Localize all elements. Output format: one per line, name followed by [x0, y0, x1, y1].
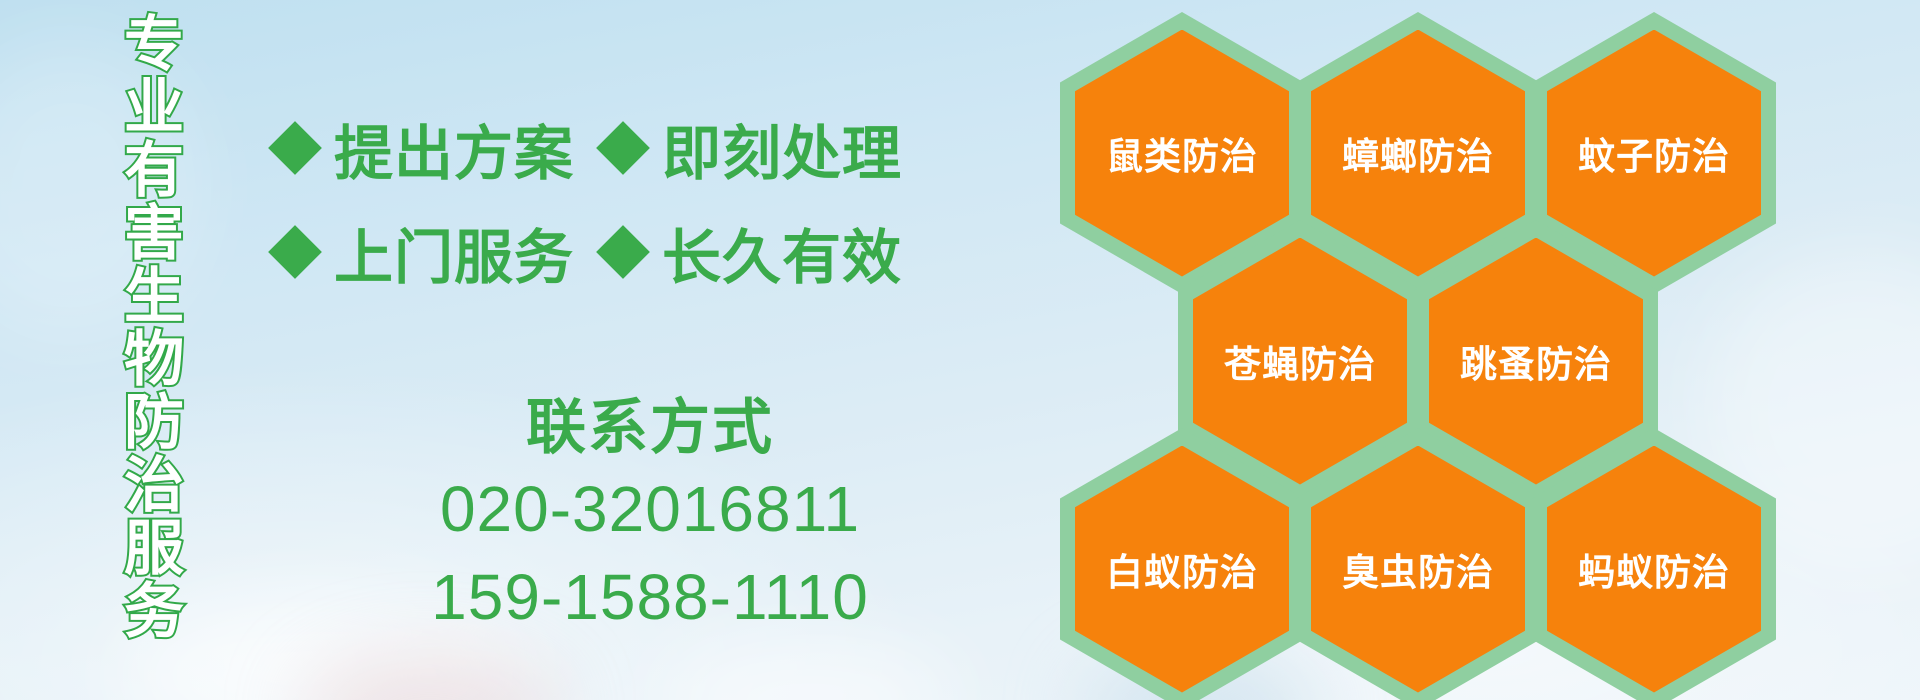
diamond-bullet-icon — [268, 121, 322, 175]
diamond-bullet-icon — [596, 121, 650, 175]
vertical-headline-char: 务 — [106, 581, 202, 644]
contact-heading: 联系方式 — [300, 390, 1000, 465]
service-label: 鼠类防治 — [1106, 126, 1258, 180]
service-label: 白蚁防治 — [1106, 542, 1258, 596]
contact-block: 联系方式 020-32016811 159-1588-1110 — [300, 390, 1000, 642]
diamond-bullet-icon — [268, 225, 322, 279]
hexagon-inner: 臭虫防治 — [1311, 446, 1525, 693]
background-bokeh-blob — [660, 640, 960, 700]
feature-item-immediate-handling: 即刻处理 — [604, 106, 902, 191]
hexagon-inner: 蚊子防治 — [1547, 30, 1761, 277]
vertical-headline-char: 专 — [106, 14, 202, 77]
contact-phone-landline[interactable]: 020-32016811 — [300, 465, 1000, 553]
service-label: 跳蚤防治 — [1460, 334, 1612, 388]
service-label: 蚂蚁防治 — [1578, 542, 1730, 596]
service-label: 蚊子防治 — [1578, 126, 1730, 180]
vertical-headline: 专 业 有 害 生 物 防 治 服 务 — [106, 14, 202, 644]
service-label: 臭虫防治 — [1342, 542, 1494, 596]
hexagon-inner: 蟑螂防治 — [1311, 30, 1525, 277]
feature-label: 上门服务 — [334, 210, 574, 295]
vertical-headline-char: 生 — [106, 266, 202, 329]
feature-item-propose-plan: 提出方案 — [276, 106, 574, 191]
feature-row: 提出方案 即刻处理 — [276, 96, 1076, 200]
service-label: 苍蝇防治 — [1224, 334, 1376, 388]
service-hexagon-grid: 鼠类防治 蟑螂防治 蚊子防治 苍蝇防治 跳蚤防治 白蚁防治 — [1060, 0, 1800, 700]
vertical-headline-char: 业 — [106, 77, 202, 140]
vertical-headline-char: 治 — [106, 455, 202, 518]
background-bokeh-blob — [300, 655, 560, 700]
contact-phone-mobile[interactable]: 159-1588-1110 — [300, 553, 1000, 641]
service-label: 蟑螂防治 — [1342, 126, 1494, 180]
feature-item-long-lasting: 长久有效 — [604, 210, 902, 295]
vertical-headline-char: 害 — [106, 203, 202, 266]
hexagon-inner: 跳蚤防治 — [1429, 238, 1643, 485]
feature-label: 提出方案 — [334, 106, 574, 191]
feature-row: 上门服务 长久有效 — [276, 200, 1076, 304]
vertical-headline-char: 防 — [106, 392, 202, 455]
feature-label: 即刻处理 — [662, 106, 902, 191]
vertical-headline-char: 服 — [106, 518, 202, 581]
vertical-headline-char: 有 — [106, 140, 202, 203]
hexagon-inner: 白蚁防治 — [1075, 446, 1289, 693]
hexagon-inner: 鼠类防治 — [1075, 30, 1289, 277]
hexagon-inner: 蚂蚁防治 — [1547, 446, 1761, 693]
feature-item-onsite-service: 上门服务 — [276, 210, 574, 295]
vertical-headline-char: 物 — [106, 329, 202, 392]
hexagon-inner: 苍蝇防治 — [1193, 238, 1407, 485]
pest-control-banner: 专 业 有 害 生 物 防 治 服 务 提出方案 即刻处理 上门服务 — [0, 0, 1920, 700]
feature-label: 长久有效 — [662, 210, 902, 295]
feature-list: 提出方案 即刻处理 上门服务 长久有效 — [276, 96, 1076, 304]
diamond-bullet-icon — [596, 225, 650, 279]
